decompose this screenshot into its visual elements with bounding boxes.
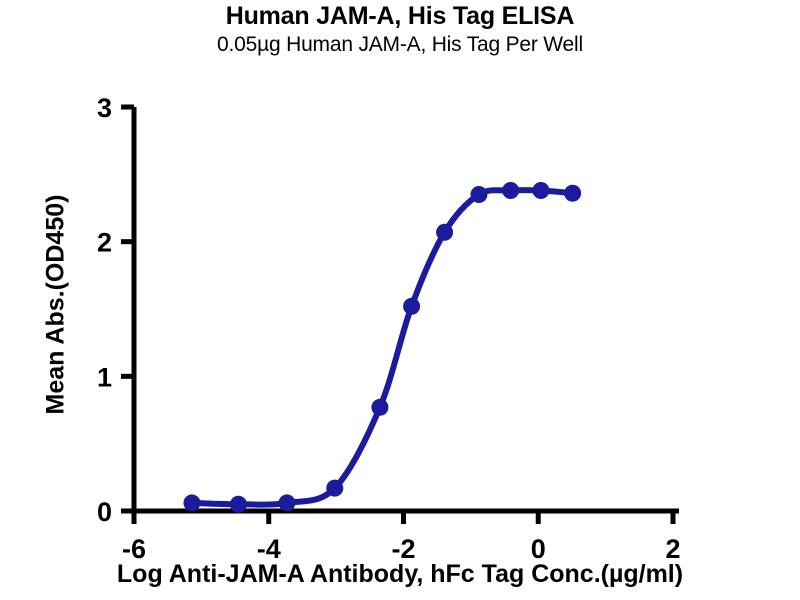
data-point [564, 185, 581, 202]
x-tick-label-3: 0 [531, 534, 546, 564]
x-tick-label-2: -2 [391, 534, 415, 564]
y-tick-label-1: 1 [97, 362, 112, 392]
x-tick-label-4: 2 [665, 534, 680, 564]
data-point [502, 182, 519, 199]
y-tick-label-0: 0 [97, 497, 112, 527]
x-tick-label-0: -6 [122, 534, 146, 564]
x-tick-label-1: -4 [257, 534, 281, 564]
data-point [230, 496, 247, 513]
data-point [403, 298, 420, 315]
plot-area: -6-4-2020123 [0, 0, 800, 600]
chart-page: Human JAM-A, His Tag ELISA 0.05µg Human … [0, 0, 800, 600]
data-point [183, 494, 200, 511]
y-tick-label-3: 3 [97, 93, 112, 123]
y-tick-label-2: 2 [97, 228, 112, 258]
data-point [278, 494, 295, 511]
data-point [436, 224, 453, 241]
data-point [532, 182, 549, 199]
series-curve-0 [192, 190, 573, 505]
data-point [326, 480, 343, 497]
data-point [371, 399, 388, 416]
data-point [470, 186, 487, 203]
